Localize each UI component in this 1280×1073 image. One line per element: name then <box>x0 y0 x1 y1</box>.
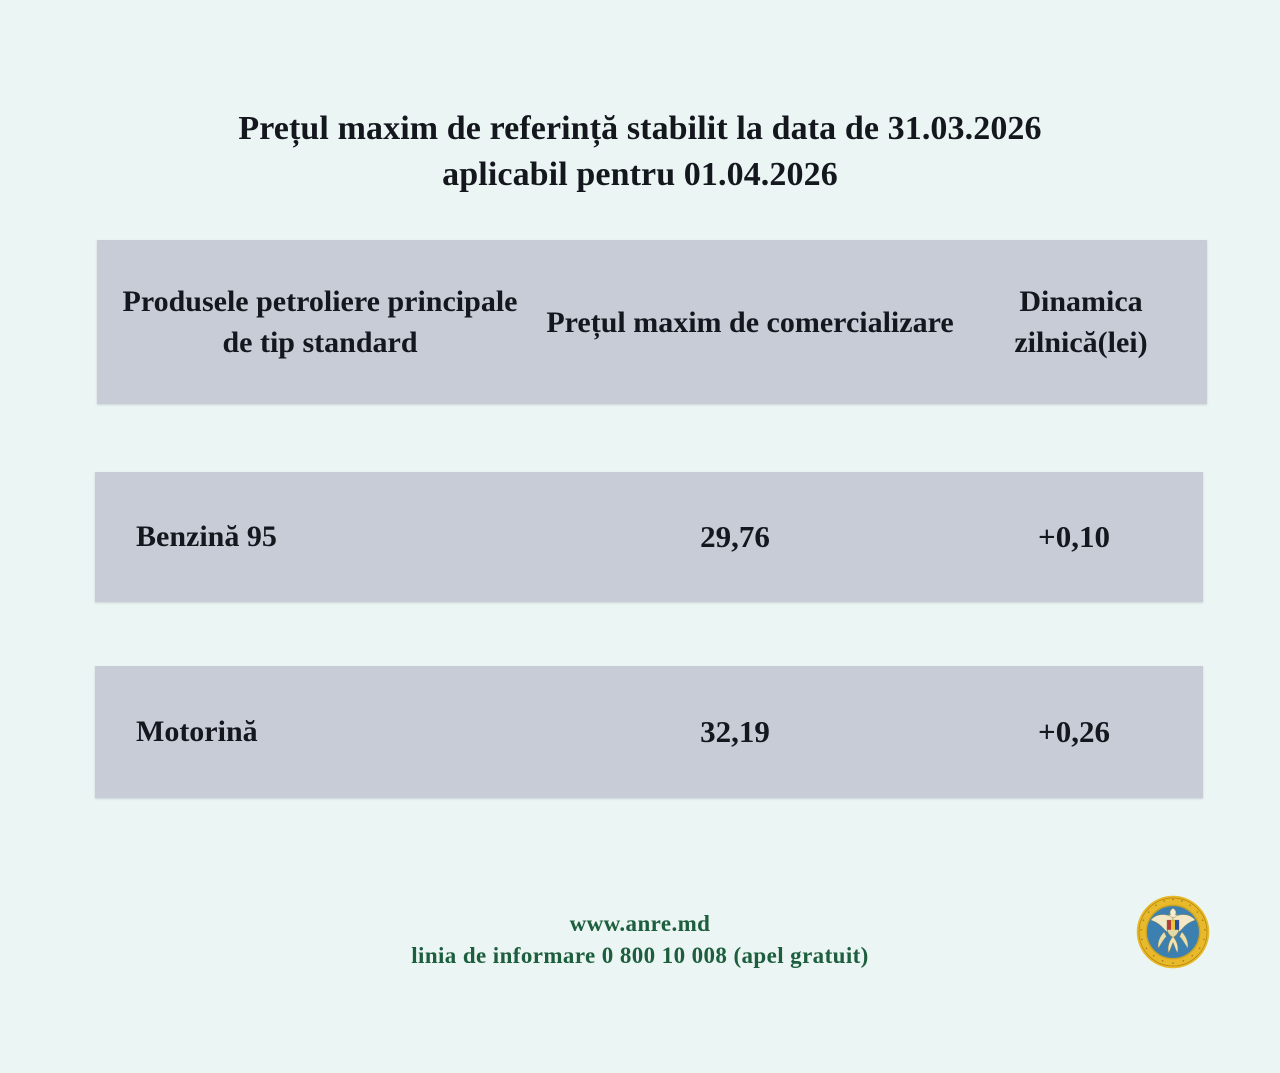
table-header-cell-price: Prețul maxim de comercializare <box>545 240 955 404</box>
anre-emblem-icon <box>1136 895 1210 969</box>
footer: www.anre.md linia de informare 0 800 10 … <box>0 908 1280 972</box>
dynamics-value: +0,10 <box>1038 519 1110 555</box>
footer-infoline: linia de informare 0 800 10 008 (apel gr… <box>0 940 1280 972</box>
table-header-label-price: Prețul maxim de comercializare <box>546 302 953 343</box>
table-cell-product: Benzină 95 <box>95 472 525 602</box>
table-header-cell-product: Produsele petroliere principale de tip s… <box>105 240 535 404</box>
footer-website[interactable]: www.anre.md <box>0 908 1280 940</box>
dynamics-value: +0,26 <box>1038 714 1110 750</box>
price-value: 29,76 <box>700 519 770 555</box>
table-header-cell-dynamics: Dinamica zilnică(lei) <box>955 240 1207 404</box>
product-name: Motorină <box>136 714 258 750</box>
table-cell-price: 29,76 <box>525 472 945 602</box>
table-header-label-product: Produsele petroliere principale de tip s… <box>105 281 535 363</box>
table-cell-product: Motorină <box>95 666 525 798</box>
table-row: Motorină 32,19 +0,26 <box>95 666 1203 798</box>
table-header-row: Produsele petroliere principale de tip s… <box>97 240 1207 404</box>
price-value: 32,19 <box>700 714 770 750</box>
table-row: Benzină 95 29,76 +0,10 <box>95 472 1203 602</box>
product-name: Benzină 95 <box>136 519 277 555</box>
table-cell-dynamics: +0,26 <box>945 666 1203 798</box>
table-cell-dynamics: +0,10 <box>945 472 1203 602</box>
table-header-label-dynamics: Dinamica zilnică(lei) <box>955 281 1207 363</box>
table-cell-price: 32,19 <box>525 666 945 798</box>
